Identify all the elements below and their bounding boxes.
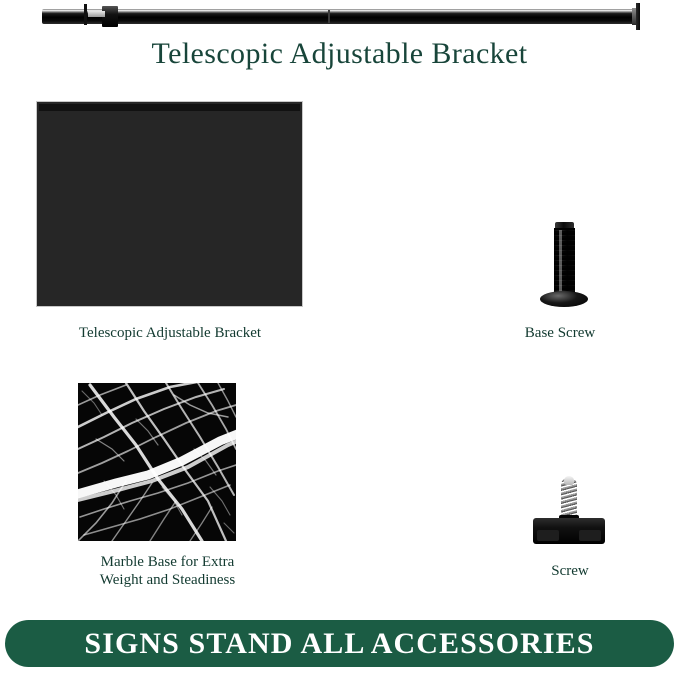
- footer-banner-text: SIGNS STAND ALL ACCESSORIES: [84, 627, 594, 661]
- telescopic-rod-image: [28, 2, 654, 28]
- rod-left-adjust-knob: [88, 11, 105, 17]
- screw-image: [533, 478, 605, 546]
- base-screw-image: [540, 222, 588, 310]
- rod-right-end-cap: [636, 3, 640, 30]
- footer-banner: SIGNS STAND ALL ACCESSORIES: [5, 620, 674, 667]
- rod-tube: [42, 9, 638, 24]
- marble-texture-icon: [78, 383, 236, 541]
- marble-base-caption: Marble Base for Extra Weight and Steadin…: [60, 553, 275, 589]
- bracket-panel-top-edge: [39, 104, 300, 111]
- bracket-caption: Telescopic Adjustable Bracket: [10, 324, 330, 342]
- screw-wing-notch-left: [537, 530, 559, 541]
- base-screw-threaded-shaft: [554, 228, 575, 295]
- screw-caption: Screw: [500, 562, 640, 580]
- rod-left-tip: [84, 4, 87, 25]
- marble-base-caption-line1: Marble Base for Extra: [60, 553, 275, 571]
- base-screw-highlight: [559, 230, 562, 292]
- marble-base-caption-line2: Weight and Steadiness: [60, 571, 275, 589]
- base-screw-caption: Base Screw: [470, 324, 650, 342]
- bracket-panel-image: [36, 101, 303, 307]
- screw-shaft-tip: [564, 476, 574, 485]
- screw-wing-notch-right: [579, 530, 601, 541]
- base-screw-flange: [540, 291, 588, 307]
- marble-base-image: [78, 383, 236, 541]
- page-title: Telescopic Adjustable Bracket: [0, 37, 679, 71]
- rod-seam: [328, 10, 330, 23]
